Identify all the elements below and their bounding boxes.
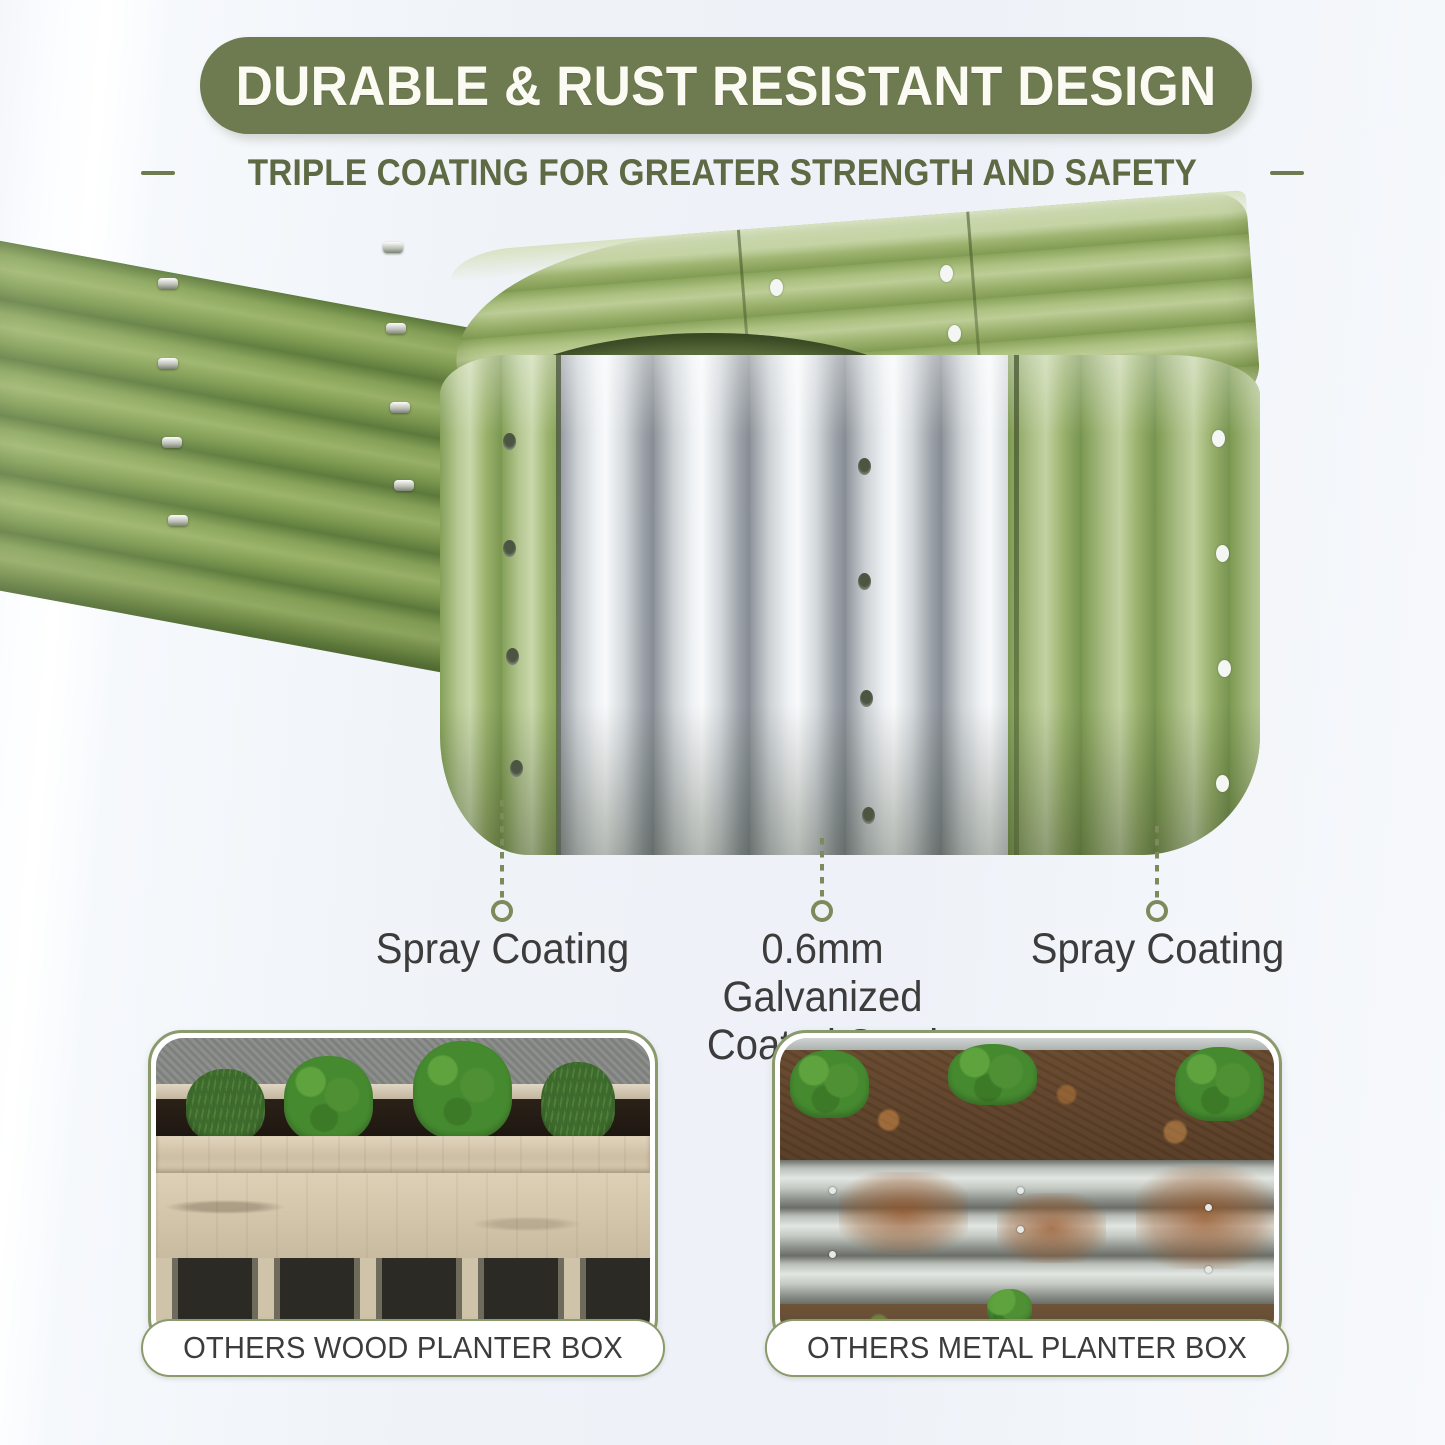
- page-subtitle: TRIPLE COATING FOR GREATER STRENGTH AND …: [248, 152, 1197, 194]
- comparison-card-wood: OTHERS WOOD PLANTER BOX: [148, 1030, 658, 1352]
- bolt-hole-icon: [770, 279, 783, 296]
- leader-marker-2: [811, 900, 833, 922]
- leader-line-1: [500, 800, 504, 902]
- caption-text-wood: OTHERS WOOD PLANTER BOX: [183, 1330, 623, 1366]
- comparison-card-metal: OTHERS METAL PLANTER BOX: [772, 1030, 1282, 1352]
- plant-basil: [413, 1041, 512, 1139]
- bolt-hole-icon: [858, 458, 871, 475]
- subtitle-row: TRIPLE COATING FOR GREATER STRENGTH AND …: [0, 152, 1445, 194]
- screw-icon: [390, 402, 410, 413]
- caption-pill-wood: OTHERS WOOD PLANTER BOX: [141, 1319, 665, 1377]
- callout-label-spray-coating-right: Spray Coating: [997, 925, 1318, 973]
- product-illustration: [0, 215, 1445, 905]
- bed-front-panel: [440, 355, 1260, 855]
- bolt-hole-icon: [862, 807, 875, 824]
- spray-coating-left-section: [440, 355, 570, 855]
- screw-icon: [383, 242, 403, 253]
- dash-right-icon: [1270, 171, 1304, 175]
- leader-marker-3: [1146, 900, 1168, 922]
- screw-icon: [168, 515, 188, 526]
- screw-icon: [394, 480, 414, 491]
- screw-icon: [162, 437, 182, 448]
- bolt-hole-icon: [948, 325, 961, 342]
- plant-leafy: [1175, 1047, 1264, 1120]
- plant-leafy: [948, 1044, 1037, 1105]
- infographic-page: DURABLE & RUST RESISTANT DESIGN TRIPLE C…: [0, 0, 1445, 1445]
- rivet-icon: [829, 1187, 836, 1194]
- bolt-hole-icon: [510, 760, 523, 777]
- header-banner: DURABLE & RUST RESISTANT DESIGN: [200, 37, 1252, 134]
- rivet-icon: [1205, 1204, 1212, 1211]
- planter-board-top: [156, 1136, 650, 1173]
- rivet-icon: [1017, 1226, 1024, 1233]
- panel-seam: [1014, 355, 1019, 855]
- screw-icon: [158, 278, 178, 289]
- rust-stain: [839, 1172, 967, 1253]
- rivet-icon: [829, 1251, 836, 1258]
- rust-stain: [997, 1193, 1106, 1264]
- bolt-hole-icon: [506, 648, 519, 665]
- galvanized-steel-section: [558, 355, 1018, 855]
- screw-icon: [158, 358, 178, 369]
- rivet-icon: [1205, 1266, 1212, 1273]
- rivet-icon: [1017, 1187, 1024, 1194]
- leader-line-2: [820, 838, 824, 902]
- plant-basil: [284, 1056, 373, 1142]
- dash-left-icon: [141, 171, 175, 175]
- bolt-hole-icon: [940, 265, 953, 282]
- leader-marker-1: [491, 900, 513, 922]
- bolt-hole-icon: [503, 540, 516, 557]
- caption-text-metal: OTHERS METAL PLANTER BOX: [807, 1330, 1247, 1366]
- planter-board-front: [156, 1173, 650, 1259]
- plant-rosemary: [186, 1069, 265, 1142]
- caption-pill-metal: OTHERS METAL PLANTER BOX: [765, 1319, 1289, 1377]
- rust-stain: [1136, 1166, 1274, 1269]
- leader-line-3: [1155, 826, 1159, 902]
- bolt-hole-icon: [858, 573, 871, 590]
- metal-planter-photo: [780, 1038, 1274, 1344]
- bolt-hole-icon: [860, 690, 873, 707]
- page-title: DURABLE & RUST RESISTANT DESIGN: [236, 53, 1217, 118]
- wood-planter-photo: [156, 1038, 650, 1344]
- bolt-hole-icon: [503, 433, 516, 450]
- bolt-hole-icon: [1216, 545, 1229, 562]
- bolt-hole-icon: [1216, 775, 1229, 792]
- plant-rosemary: [541, 1062, 615, 1142]
- callout-label-spray-coating-left: Spray Coating: [342, 925, 663, 973]
- planter-corrugated-wall: [780, 1160, 1274, 1307]
- plant-leafy: [790, 1050, 869, 1117]
- screw-icon: [386, 323, 406, 334]
- bolt-hole-icon: [1212, 430, 1225, 447]
- panel-seam: [556, 355, 561, 855]
- bolt-hole-icon: [1218, 660, 1231, 677]
